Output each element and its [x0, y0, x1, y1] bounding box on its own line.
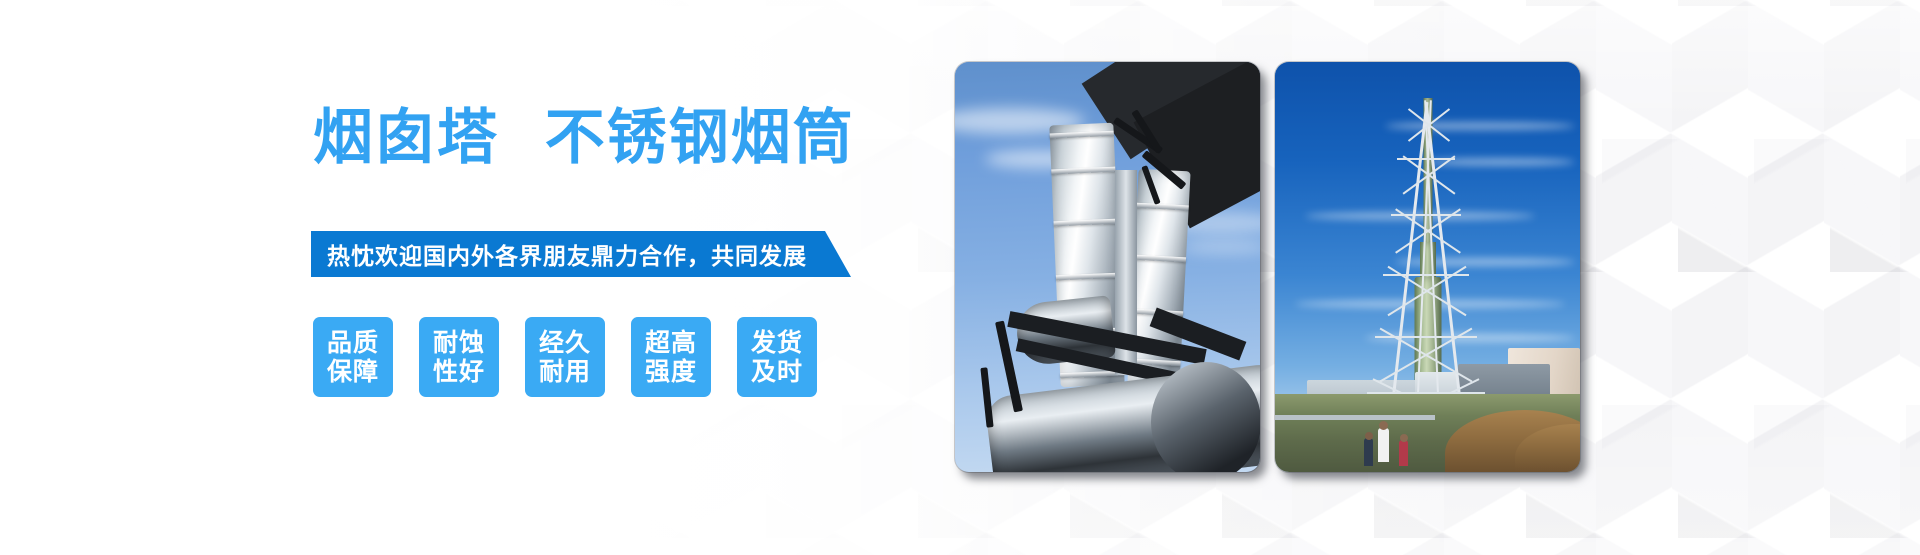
product-photo-lattice-tower[interactable] — [1275, 62, 1580, 472]
duct-end-cap — [1151, 362, 1260, 472]
badge-line-1: 经久 — [539, 328, 591, 358]
worker-figure — [1378, 428, 1389, 462]
stack-band — [1137, 203, 1189, 211]
badge-line-2: 保障 — [327, 357, 379, 387]
tower-horizontal — [1375, 336, 1477, 338]
tower-horizontal — [1391, 214, 1461, 216]
stack-band — [1051, 167, 1115, 175]
cloud-wisp — [1385, 122, 1575, 130]
banner-headline: 烟囱塔 不锈钢烟筒 — [313, 108, 855, 168]
worker-head — [1379, 421, 1388, 430]
badge-line-1: 发货 — [751, 328, 803, 358]
promo-banner: 烟囱塔 不锈钢烟筒 热忱欢迎国内外各界朋友鼎力合作，共同发展 品质 保障 耐蚀 … — [0, 0, 1920, 555]
banner-slogan-text: 热忱欢迎国内外各界朋友鼎力合作，共同发展 — [327, 237, 807, 271]
cloud-shape — [1180, 240, 1260, 254]
badge-line-2: 性好 — [433, 357, 485, 387]
badge-line-1: 超高 — [645, 328, 697, 358]
worker-figure — [1364, 438, 1373, 466]
banner-slogan-ribbon: 热忱欢迎国内外各界朋友鼎力合作，共同发展 — [311, 231, 851, 277]
tower-horizontal — [1397, 158, 1455, 160]
badge-line-2: 及时 — [751, 357, 803, 387]
feature-badge-fast-delivery[interactable]: 发货 及时 — [737, 317, 817, 397]
badge-line-2: 强度 — [645, 357, 697, 387]
product-photo-stainless-chimney[interactable] — [955, 62, 1260, 472]
worker-figure — [1399, 440, 1408, 466]
badge-line-1: 耐蚀 — [433, 328, 485, 358]
photo-content-stainless-chimney — [955, 62, 1260, 472]
worker-head — [1365, 432, 1373, 440]
stack-band — [1054, 219, 1118, 227]
worker-head — [1400, 434, 1408, 442]
feature-badge-quality[interactable]: 品质 保障 — [313, 317, 393, 397]
tower-horizontal — [1383, 274, 1469, 276]
stack-band — [1050, 131, 1114, 139]
feature-badge-strength[interactable]: 超高 强度 — [631, 317, 711, 397]
fence-line — [1275, 415, 1435, 420]
badge-line-1: 品质 — [327, 328, 379, 358]
badge-line-2: 耐用 — [539, 357, 591, 387]
banner-text-column: 烟囱塔 不锈钢烟筒 热忱欢迎国内外各界朋友鼎力合作，共同发展 品质 保障 耐蚀 … — [0, 0, 960, 555]
feature-badge-corrosion-resistance[interactable]: 耐蚀 性好 — [419, 317, 499, 397]
feature-badge-durability[interactable]: 经久 耐用 — [525, 317, 605, 397]
feature-badge-list: 品质 保障 耐蚀 性好 经久 耐用 超高 强度 发货 及时 — [313, 317, 817, 397]
stack-band — [1134, 255, 1186, 263]
photo-content-lattice-tower — [1275, 62, 1580, 472]
stack-band — [1056, 273, 1120, 281]
